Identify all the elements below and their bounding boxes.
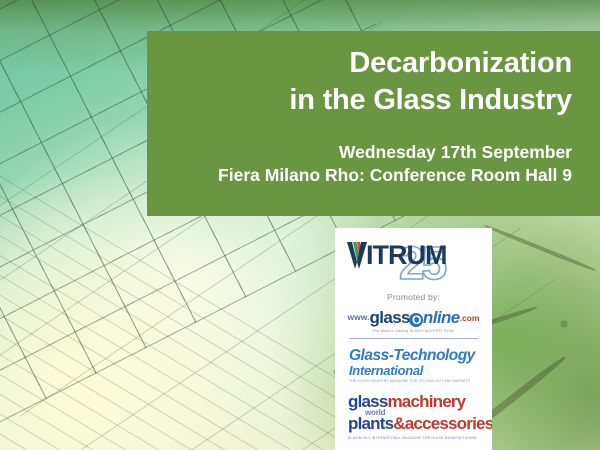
event-venue: Fiera Milano Rho: Conference Room Hall 9 [167,164,572,187]
vitrum-v-chevron-icon [347,242,367,269]
title-banner: Decarbonization in the Glass Industry We… [147,31,600,216]
glassonline-com: .com [460,313,480,323]
glassonline-logo[interactable]: www.glassOnline.com The World's Leading … [343,309,484,339]
event-date: Wednesday 17th September [167,141,572,164]
vitrum-logo: ITRUM 25 [343,236,484,286]
promo-banner-image: Decarbonization in the Glass Industry We… [0,0,600,450]
branch-icon [484,224,597,273]
glassonline-glass: glass [369,308,409,327]
event-title-line2: in the Glass Industry [167,82,572,119]
gti-tagline: THE GLASS INDUSTRY MAGAZINE FOR TECHNOLO… [349,379,484,383]
event-title-line1: Decarbonization [167,45,572,82]
glass-technology-international-logo[interactable]: Glass-Technology International THE GLASS… [343,348,484,383]
gti-line1: Glass-Technology [349,348,484,364]
glassonline-wordmark: www.glassOnline.com [343,309,484,327]
gm-plants: plants [348,414,393,433]
gm-accessories: accessories [405,414,492,433]
glass-machinery-logo[interactable]: glassmachinery world plants&accessories … [343,394,484,439]
gm-row2: plants&accessories [348,416,484,433]
glassonline-nline: nline [423,308,460,327]
vitrum-wordmark-text: ITRUM [366,240,446,270]
vitrum-wordmark: ITRUM [347,240,446,271]
glassonline-www: www. [348,312,370,322]
gm-ampersand: & [393,414,404,433]
glassonline-tagline: The World's Leading GLASS INDUSTRY Porta… [343,329,484,334]
glassonline-divider [349,338,478,339]
gm-machinery: machinery [387,392,465,411]
promoted-by-label: Promoted by: [343,292,484,302]
sponsor-card: ITRUM 25 Promoted by: www.glassOnline.co… [335,228,492,450]
event-details: Wednesday 17th September Fiera Milano Rh… [167,141,572,188]
gti-line2: International [349,364,484,378]
glassonline-o-icon: O [409,313,423,327]
gm-tagline: BI-MONTHLY INTERNATIONAL MAGAZINE FOR GL… [348,436,484,440]
